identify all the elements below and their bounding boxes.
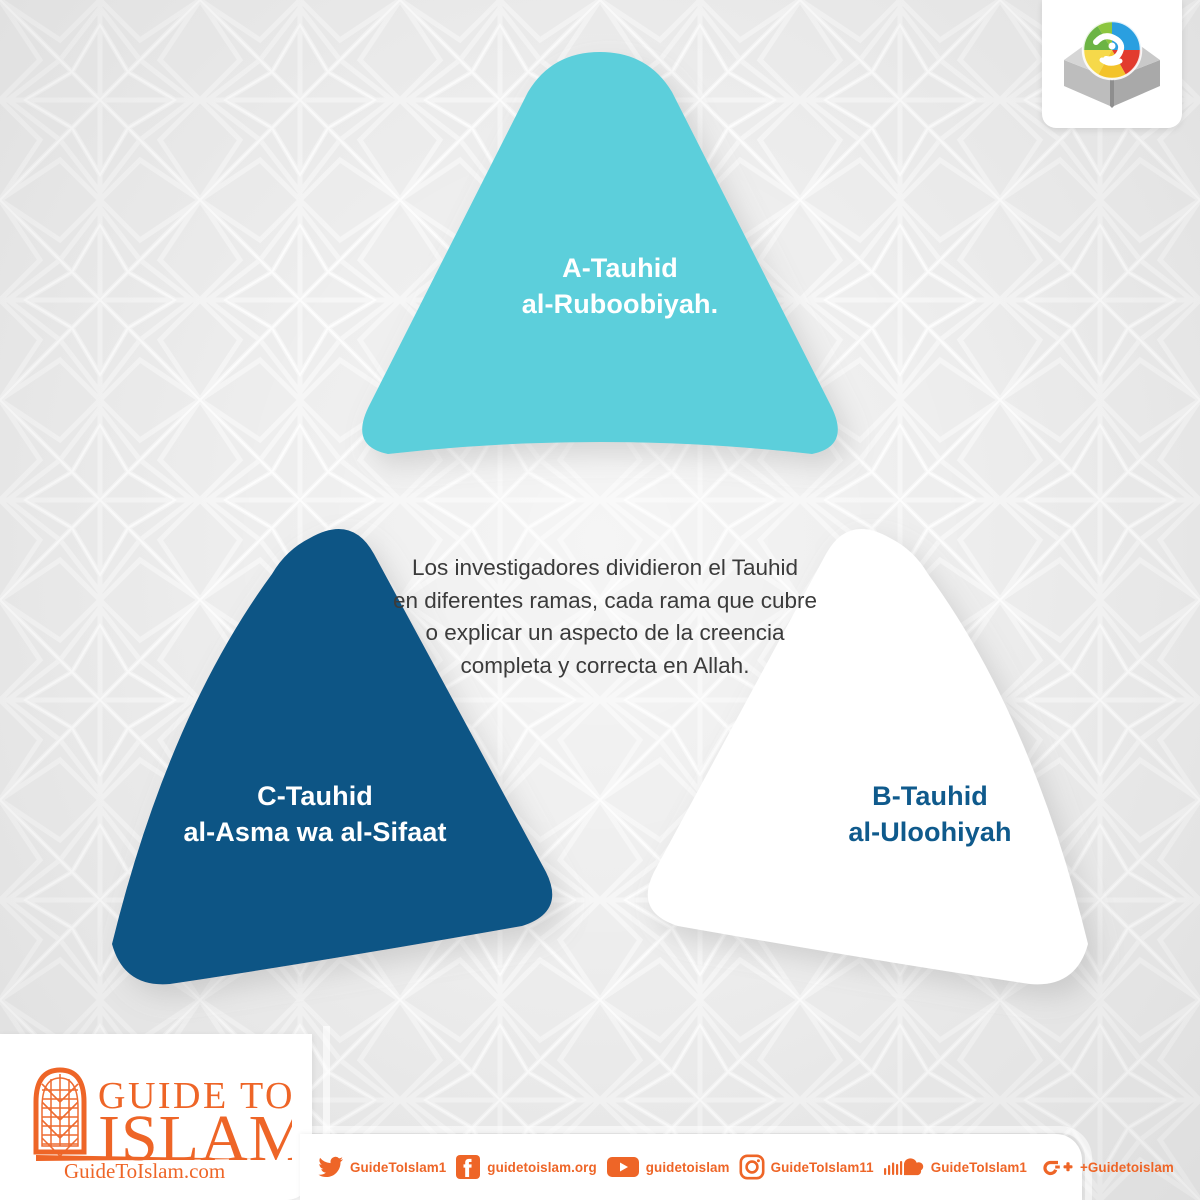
- soundcloud-handle: GuideToIslam1: [931, 1160, 1027, 1175]
- brand-logo-card[interactable]: GUIDE TO ISLAM GuideToIslam.com: [0, 1034, 312, 1200]
- shape-c-label: C-Tauhid al-Asma wa al-Sifaat: [90, 778, 540, 850]
- social-link-instagram[interactable]: GuideToIslam11: [739, 1134, 874, 1200]
- svg-text:GuideToIslam.com: GuideToIslam.com: [64, 1159, 225, 1180]
- shape-b-label: B-Tauhid al-Uloohiyah: [760, 778, 1100, 850]
- infographic-canvas: A-Tauhid al-Ruboobiyah. B-Tauhid al-Uloo…: [0, 0, 1200, 1200]
- soundcloud-icon: [883, 1156, 925, 1178]
- facebook-handle: guidetoislam.org: [487, 1160, 596, 1175]
- mashrabiya-arch-icon: [36, 1070, 84, 1156]
- googleplus-icon: [1036, 1154, 1074, 1180]
- social-link-youtube[interactable]: guidetoislam: [606, 1134, 730, 1200]
- globe-book-logo-icon: [1056, 16, 1168, 112]
- social-link-facebook[interactable]: guidetoislam.org: [455, 1134, 596, 1200]
- youtube-handle: guidetoislam: [646, 1160, 730, 1175]
- center-description-text: Los investigadores dividieron el Tauhid …: [360, 552, 850, 683]
- googleplus-handle: +Guidetoislam: [1080, 1160, 1174, 1175]
- guide-to-islam-logo: GUIDE TO ISLAM GuideToIslam.com: [22, 1056, 292, 1180]
- twitter-icon: [318, 1156, 344, 1178]
- social-link-twitter[interactable]: GuideToIslam1: [318, 1134, 446, 1200]
- twitter-handle: GuideToIslam1: [350, 1160, 446, 1175]
- facebook-icon: [455, 1154, 481, 1180]
- social-link-googleplus[interactable]: +Guidetoislam: [1036, 1134, 1174, 1200]
- social-link-soundcloud[interactable]: GuideToIslam1: [883, 1134, 1027, 1200]
- youtube-icon: [606, 1155, 640, 1179]
- shape-a-label: A-Tauhid al-Ruboobiyah.: [370, 250, 870, 322]
- instagram-handle: GuideToIslam11: [771, 1160, 874, 1175]
- instagram-icon: [739, 1154, 765, 1180]
- site-emblem-badge[interactable]: [1042, 0, 1182, 128]
- social-links-bar: GuideToIslam1 guidetoislam.org guidetois…: [300, 1134, 1082, 1200]
